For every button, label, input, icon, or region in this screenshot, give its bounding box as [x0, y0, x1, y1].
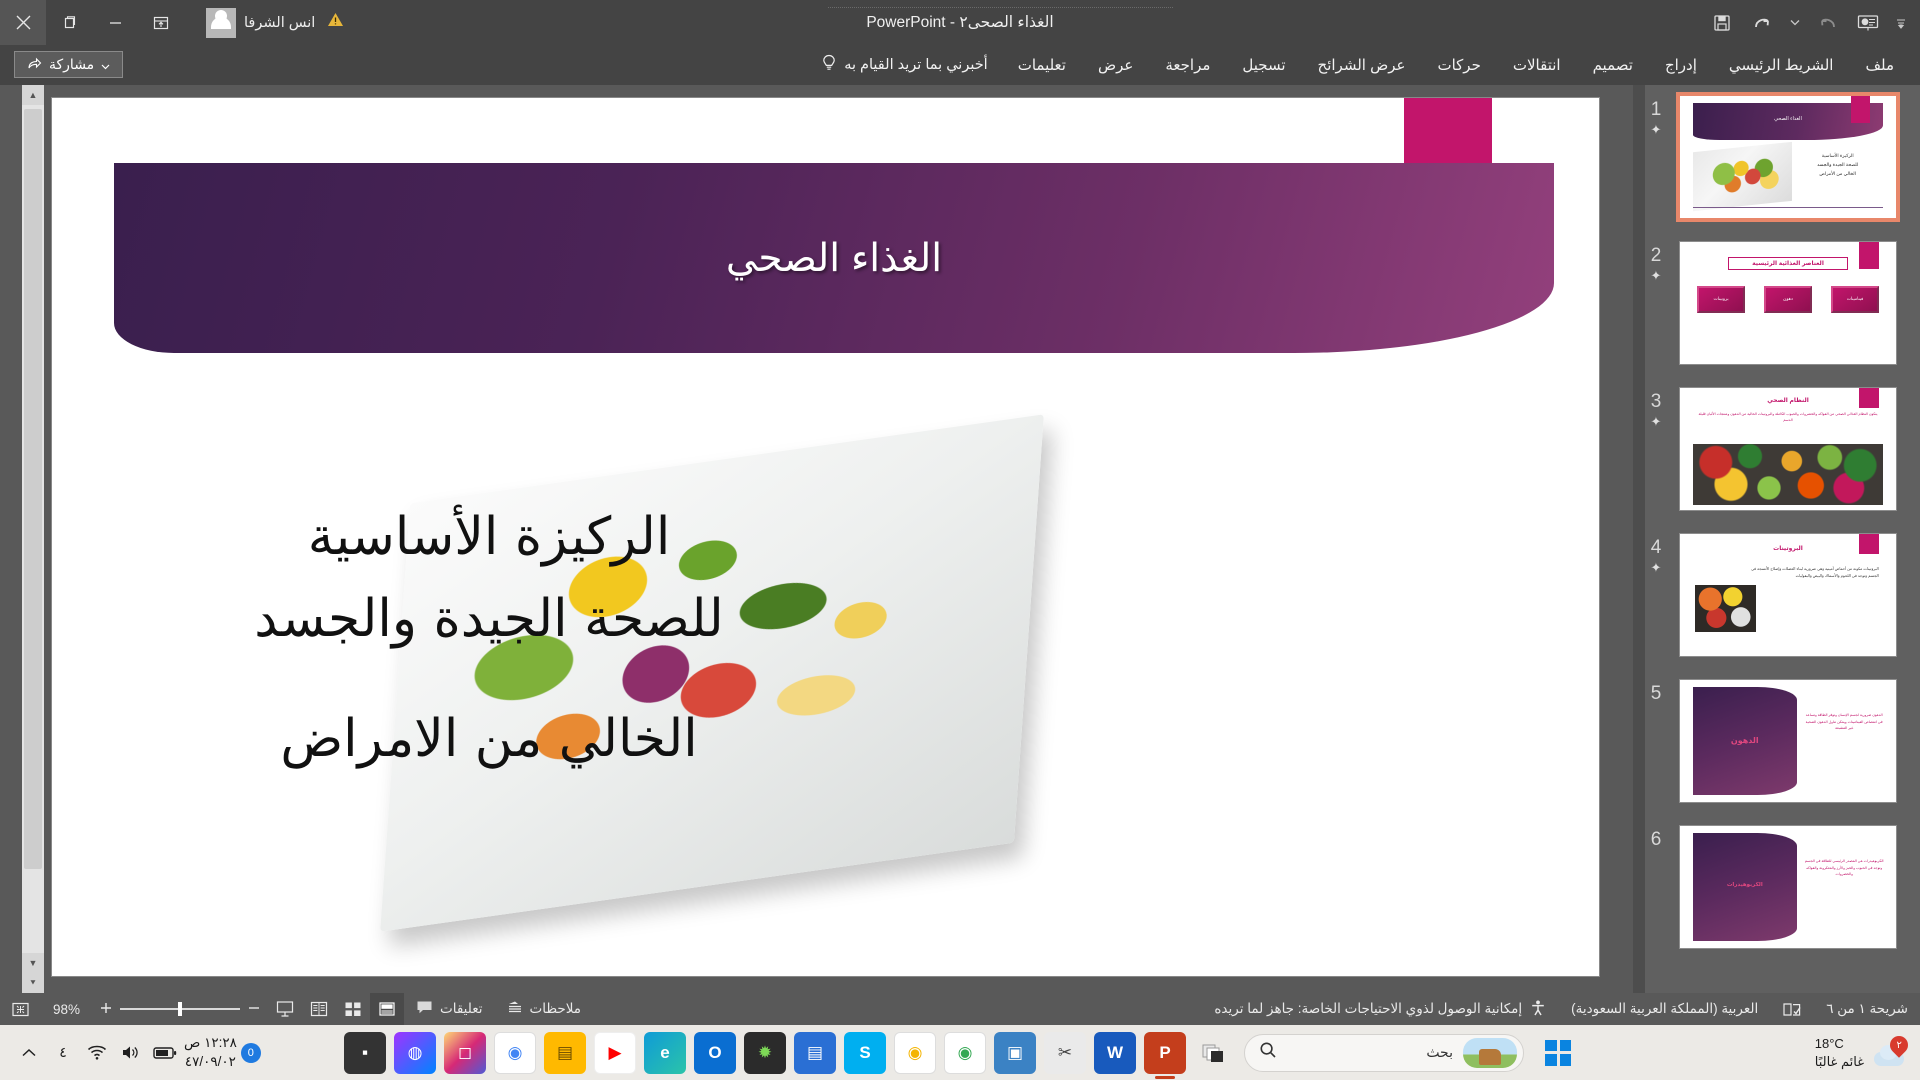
taskbar-weather-widget[interactable]: ٢ 18°C غائم غالبًا [1815, 1035, 1906, 1070]
save-icon[interactable] [1702, 0, 1742, 45]
ribbon-tabs: ملف الشريط الرئيسي إدراج تصميم انتقالات … [807, 48, 1920, 82]
taskbar-clock[interactable]: ١٢:٢٨ ص ٤٧/٠٩/٠٢ [184, 1034, 237, 1070]
taskbar-app-skype[interactable]: S [844, 1032, 886, 1074]
ribbon-display-options-icon[interactable] [138, 0, 184, 45]
mini-slide-title-2: العناصر الغذائية الرئيسية [1728, 257, 1849, 270]
taskbar-app-chrome-canary[interactable]: ◉ [894, 1032, 936, 1074]
mini-slide-title-5: الدهون [1704, 736, 1786, 745]
status-bar-right-group: شريحة ١ من ٦ العربية (المملكة العربية ال… [1202, 993, 1920, 1025]
tab-design[interactable]: تصميم [1577, 50, 1649, 80]
plus-icon[interactable] [100, 1002, 112, 1017]
mini-accent-tab [1851, 96, 1870, 123]
taskbar-app-instagram[interactable]: ◻ [444, 1032, 486, 1074]
thumbnail-canvas-5[interactable]: الدهون الدهون ضرورية لجسم الإنسان وتوفر … [1679, 679, 1897, 803]
weather-widget[interactable]: ٢ 18°C غائم غالبًا [1815, 1035, 1906, 1070]
thumbnail-canvas-2[interactable]: العناصر الغذائية الرئيسية فيتامينات دهون… [1679, 241, 1897, 365]
taskbar: 0 ١٢:٢٨ ص ٤٧/٠٩/٠٢ ٤ ▪ ◍ ◻ ◉ ▤ ▶ e O ✹ ▤… [0, 1025, 1920, 1080]
taskbar-app-youtube[interactable]: ▶ [594, 1032, 636, 1074]
share-label: مشاركة [49, 56, 94, 73]
comments-label: تعليقات [440, 1001, 482, 1017]
weather-text: 18°C غائم غالبًا [1815, 1035, 1864, 1070]
titlebar-drag-handle [828, 7, 1173, 8]
tab-file[interactable]: ملف [1849, 50, 1910, 80]
scroll-down-arrow-icon[interactable]: ▼ [22, 953, 44, 973]
tell-me-label: أخبرني بما تريد القيام به [844, 57, 988, 73]
slide-title-text: الغذاء الصحي [114, 163, 1554, 353]
tab-animations[interactable]: حركات [1421, 50, 1496, 80]
quick-access-toolbar [1702, 0, 1920, 45]
slide-vertical-scrollbar[interactable]: ▲ ▼ ⯆ [22, 85, 44, 993]
status-bar: 98% تعليقات [0, 993, 1920, 1025]
mini-body-4: البروتينات مكونة من أحماض أمينية وهي ضرو… [1745, 566, 1879, 581]
mini-body-1: الركيزة الأساسية للصحة الجيدة والجسد الخ… [1792, 152, 1883, 178]
zoom-level[interactable]: 98% [41, 993, 92, 1025]
tab-insert[interactable]: إدراج [1649, 50, 1713, 80]
taskbar-app-chrome[interactable]: ◉ [494, 1032, 536, 1074]
ribbon-tab-bar: ملف الشريط الرئيسي إدراج تصميم انتقالات … [0, 45, 1920, 85]
warning-icon [327, 12, 344, 33]
user-account-chip[interactable]: انس الشرفا [198, 0, 352, 45]
thumbnail-canvas-4[interactable]: البروتينات البروتينات مكونة من أحماض أمي… [1679, 533, 1897, 657]
taskbar-app-terminal[interactable]: ▪ [344, 1032, 386, 1074]
taskbar-app-edge[interactable]: e [644, 1032, 686, 1074]
thumbnail-slide-6[interactable]: 6 الكربوهيدرات الكربوهيدرات هي المصدر ال… [1633, 825, 1920, 949]
slide-body-line-3: الخالي من الامراض [139, 700, 839, 778]
taskbar-app-area: ▪ ◍ ◻ ◉ ▤ ▶ e O ✹ ▤ S ◉ ◉ ▣ ✂ W P بحث [344, 1032, 1576, 1074]
share-button[interactable]: مشاركة [14, 51, 123, 78]
title-bar: انس الشرفا الغذاء الصحى٢ - PowerPoint [0, 0, 1920, 45]
thumbnail-slide-2[interactable]: 2 ✦ العناصر الغذائية الرئيسية فيتامينات … [1633, 241, 1920, 365]
scrollbar-thumb[interactable] [24, 109, 42, 869]
slide-thumbnail-pane[interactable]: 1 ✦ الغذاء الصحي الركيزة الأساسية للصحة … [1633, 85, 1920, 993]
taskbar-app-word[interactable]: W [1094, 1032, 1136, 1074]
customize-quick-access-toolbar-chevron-down-icon[interactable] [1888, 0, 1914, 45]
slide-counter[interactable]: شريحة ١ من ٦ [1814, 993, 1920, 1025]
volume-icon[interactable] [116, 1038, 146, 1068]
lightbulb-icon [821, 54, 837, 76]
mini-vegetables [1710, 153, 1779, 197]
mini-body-5: الدهون ضرورية لجسم الإنسان وتوفر الطاقة … [1803, 712, 1885, 732]
taskbar-app-snipping-tool[interactable]: ✂ [1044, 1032, 1086, 1074]
taskbar-app-chrome-beta[interactable]: ◉ [944, 1032, 986, 1074]
accessibility-icon [1529, 999, 1547, 1020]
thumbnail-slide-5[interactable]: 5 الدهون الدهون ضرورية لجسم الإنسان وتوف… [1633, 679, 1920, 803]
mini-slide-title-4: البروتينات [1680, 545, 1896, 552]
taskbar-app-photos[interactable]: ▣ [994, 1032, 1036, 1074]
clock-date: ٤٧/٠٩/٠٢ [184, 1053, 237, 1071]
restore-icon[interactable] [46, 0, 92, 45]
normal-view-icon[interactable] [370, 993, 404, 1025]
presentation-icon[interactable] [1848, 0, 1888, 45]
slide-sorter-view-icon[interactable] [336, 993, 370, 1025]
slide-body-line-1: الركيزة الأساسية [308, 507, 671, 567]
taskbar-system-tray: 0 ١٢:٢٨ ص ٤٧/٠٩/٠٢ ٤ [0, 1034, 261, 1070]
mini-accent-tab [1859, 242, 1878, 269]
zoom-knob[interactable] [178, 1002, 182, 1016]
taskbar-app-xbox[interactable]: ✹ [744, 1032, 786, 1074]
windows-search-box[interactable]: بحث [1244, 1034, 1524, 1072]
mini-protein-photo [1695, 585, 1755, 631]
zoom-track[interactable] [120, 1008, 240, 1010]
show-hidden-icons-chevron-up-icon[interactable] [14, 1038, 44, 1068]
undo-dropdown-chevron-down-icon[interactable] [1782, 0, 1808, 45]
taskbar-app-messenger[interactable]: ◍ [394, 1032, 436, 1074]
fit-slide-to-window-icon[interactable] [0, 993, 41, 1025]
tab-record[interactable]: تسجيل [1226, 50, 1301, 80]
work-area: 1 ✦ الغذاء الصحي الركيزة الأساسية للصحة … [0, 85, 1920, 993]
avatar[interactable] [206, 8, 236, 38]
tell-me-search[interactable]: أخبرني بما تريد القيام به [807, 48, 1002, 82]
clock-time: ١٢:٢٨ ص [184, 1034, 237, 1052]
thumbnail-canvas-1[interactable]: الغذاء الصحي الركيزة الأساسية للصحة الجي… [1679, 95, 1897, 219]
thumbnail-canvas-6[interactable]: الكربوهيدرات الكربوهيدرات هي المصدر الرئ… [1679, 825, 1897, 949]
language-indicator[interactable]: العربية (المملكة العربية السعودية) [1559, 993, 1770, 1025]
mini-slide-title-3: النظام الصحي [1680, 397, 1896, 404]
battery-icon[interactable] [150, 1038, 180, 1068]
weather-temperature: 18°C [1815, 1035, 1864, 1053]
accessibility-status[interactable]: إمكانية الوصول لذوي الاحتياجات الخاصة: ج… [1202, 993, 1559, 1025]
taskbar-app-microsoft-store[interactable]: ▤ [794, 1032, 836, 1074]
weather-description: غائم غالبًا [1815, 1053, 1864, 1071]
undo-icon[interactable] [1808, 0, 1848, 45]
tab-slide-show[interactable]: عرض الشرائح [1302, 50, 1422, 80]
spellcheck-icon[interactable] [1770, 993, 1814, 1025]
tab-home[interactable]: الشريط الرئيسي [1713, 50, 1850, 80]
mini-box-1: فيتامينات [1831, 286, 1879, 313]
chevron-down-icon [101, 57, 110, 73]
redo-icon[interactable] [1742, 0, 1782, 45]
slideshow-view-icon[interactable] [268, 993, 302, 1025]
close-icon[interactable] [0, 0, 46, 45]
thumbnail-slide-1[interactable]: 1 ✦ الغذاء الصحي الركيزة الأساسية للصحة … [1633, 95, 1920, 219]
search-input[interactable]: بحث [1287, 1044, 1453, 1061]
user-name: انس الشرفا [244, 15, 315, 31]
tab-review[interactable]: مراجعة [1149, 50, 1226, 80]
scroll-up-arrow-icon[interactable]: ▲ [22, 85, 44, 105]
next-slide-button[interactable]: ⯆ [22, 973, 44, 993]
mini-body-6: الكربوهيدرات هي المصدر الرئيسي للطاقة في… [1803, 858, 1885, 878]
notes-label: ملاحظات [530, 1001, 582, 1017]
horse-wallpaper-thumbnail[interactable] [1463, 1038, 1517, 1068]
mini-rule [1693, 207, 1883, 208]
comments-button[interactable]: تعليقات [404, 993, 494, 1025]
slide-editing-stage: الغذاء الصحي الركيزة الأساسية للصحة الجي… [22, 85, 1633, 993]
tab-transitions[interactable]: انتقالات [1497, 50, 1577, 80]
notification-badge[interactable]: 0 [241, 1043, 261, 1063]
notes-button[interactable]: ملاحظات [495, 993, 594, 1025]
minus-icon[interactable] [248, 1002, 260, 1017]
zoom-slider[interactable] [92, 1002, 268, 1017]
tab-view[interactable]: عرض [1082, 50, 1149, 80]
comment-bubble-icon [416, 1000, 433, 1018]
search-icon[interactable] [1259, 1041, 1277, 1064]
mini-box-2: دهون [1764, 286, 1812, 313]
cloud-icon: ٢ [1872, 1038, 1906, 1068]
status-bar-left-group: 98% تعليقات [0, 993, 593, 1025]
share-icon [27, 56, 42, 74]
taskbar-app-file-explorer[interactable]: ▤ [544, 1032, 586, 1074]
mini-food-photo [1693, 444, 1883, 505]
windows-start-icon[interactable] [1540, 1035, 1576, 1071]
thumbnail-pane-scrollbar[interactable] [1633, 85, 1645, 993]
taskbar-app-outlook[interactable]: O [694, 1032, 736, 1074]
thumbnail-slide-4[interactable]: 4 ✦ البروتينات البروتينات مكونة من أحماض… [1633, 533, 1920, 657]
accessibility-label: إمكانية الوصول لذوي الاحتياجات الخاصة: ج… [1214, 1001, 1522, 1017]
task-view-icon[interactable] [1200, 1038, 1230, 1068]
tab-help[interactable]: تعليمات [1002, 50, 1082, 80]
input-language-indicator[interactable]: ٤ [48, 1038, 78, 1068]
minimize-icon[interactable] [92, 0, 138, 45]
thumbnail-slide-3[interactable]: 3 ✦ النظام الصحي يتكون النظام الغذائي ال… [1633, 387, 1920, 511]
mini-box-3: بروتينات [1697, 286, 1745, 313]
taskbar-app-powerpoint[interactable]: P [1144, 1032, 1186, 1074]
current-slide-canvas[interactable]: الغذاء الصحي الركيزة الأساسية للصحة الجي… [52, 98, 1599, 976]
slide-title-banner[interactable]: الغذاء الصحي [114, 163, 1554, 353]
mini-body-3: يتكون النظام الغذائي الصحي من الفواكه وا… [1697, 411, 1878, 423]
mini-slide-title-6: الكربوهيدرات [1704, 882, 1786, 888]
slide-body-textbox[interactable]: الركيزة الأساسية للصحة الجيدة والجسد الخ… [139, 498, 839, 778]
reading-view-icon[interactable] [302, 993, 336, 1025]
wifi-icon[interactable] [82, 1038, 112, 1068]
notes-icon [507, 1000, 523, 1018]
slide-body-line-2: للصحة الجيدة والجسد [139, 580, 839, 658]
thumbnail-canvas-3[interactable]: النظام الصحي يتكون النظام الغذائي الصحي … [1679, 387, 1897, 511]
